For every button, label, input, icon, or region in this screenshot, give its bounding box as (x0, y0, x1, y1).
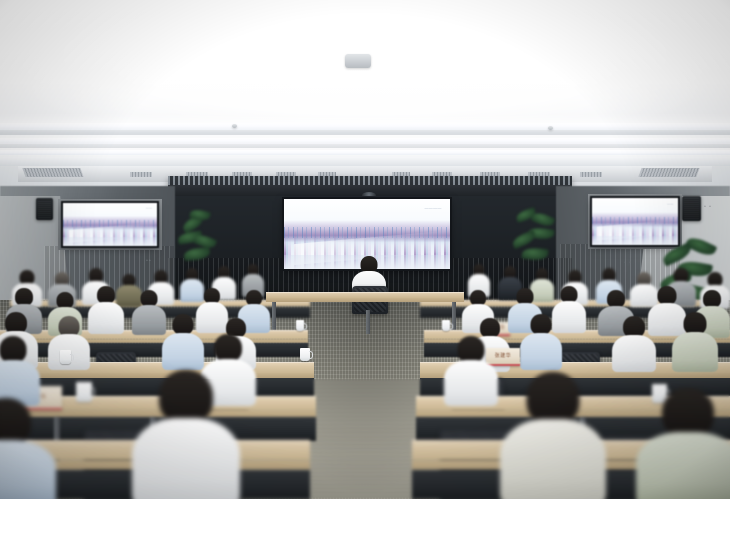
plant-left (176, 208, 222, 266)
ceiling-rail (0, 130, 730, 135)
ceiling-sprinkler-icon (232, 124, 237, 128)
head (527, 372, 580, 425)
ceiling (0, 0, 730, 196)
screen-watermark: ———— (425, 205, 442, 210)
attendee-foreground (500, 372, 606, 499)
head (173, 314, 194, 335)
plant-leaf (521, 247, 548, 262)
head (214, 334, 242, 362)
attendee-foreground (132, 370, 240, 499)
conference-room-photo: ———— —— —— ▫▫ ▫ ▫ ▫ ▫ (0, 0, 730, 499)
waterfront-band (63, 237, 157, 246)
ceiling-light-strip (0, 123, 730, 130)
paper-cup (60, 350, 71, 364)
wall-sign-left: ▫▫ (146, 258, 152, 264)
ceiling-slot (580, 172, 602, 177)
attendee (162, 314, 204, 368)
paper-cup (76, 382, 92, 402)
hvac-grille (22, 168, 83, 177)
torso (500, 419, 606, 499)
attendee (88, 286, 124, 332)
torso (636, 432, 730, 499)
ceiling-rail (0, 144, 730, 148)
cityscape-image (63, 203, 157, 246)
torso (672, 332, 718, 372)
torso (162, 333, 204, 370)
head (0, 336, 27, 363)
ceiling-slot (130, 172, 152, 177)
ceiling-sprinkler-icon (548, 126, 553, 130)
attendee (672, 312, 718, 370)
head (0, 398, 31, 446)
attendee-foreground (0, 398, 56, 499)
torso (0, 440, 56, 499)
attendee (520, 314, 562, 368)
wall-sign-right-lower: ▫ ▫ (624, 260, 632, 266)
attendee (444, 336, 498, 402)
head (662, 388, 714, 438)
screen-watermark: —— (146, 206, 153, 210)
screen-watermark: —— (667, 202, 674, 206)
head (458, 336, 485, 363)
plant-leaf (184, 247, 211, 261)
wall-speaker (682, 196, 701, 221)
attendee (0, 336, 40, 402)
wall-speaker (36, 198, 53, 220)
screenshot-root: ———— —— —— ▫▫ ▫ ▫ ▫ ▫ (0, 0, 730, 548)
head (159, 370, 213, 424)
torso (444, 360, 498, 406)
left-side-display[interactable]: —— (63, 203, 157, 246)
paper-cup (300, 348, 310, 361)
paper-cup (442, 320, 450, 331)
hvac-grille (638, 168, 699, 177)
torso (132, 418, 240, 499)
photo-caption-area (0, 499, 730, 548)
front-desk-edge (266, 298, 464, 302)
attendee-foreground (636, 388, 730, 499)
head (531, 314, 552, 335)
wall-sign-right: ▫ ▫ (704, 204, 712, 210)
paper-cup (296, 320, 304, 331)
torso (88, 302, 124, 334)
torso (612, 335, 656, 372)
ceiling-light-strip (0, 150, 730, 155)
head (480, 318, 500, 338)
plant-leaf (511, 230, 537, 249)
torso (520, 333, 562, 370)
torso (132, 305, 166, 335)
desk-leg (366, 310, 370, 334)
desk-modesty-panel (0, 343, 308, 357)
attendee (132, 290, 166, 334)
ceiling-soffit-edge (0, 157, 730, 166)
plant-right (512, 206, 560, 268)
attendee (612, 316, 656, 370)
desk-leg (272, 302, 276, 330)
smoke-detector-icon (345, 54, 371, 68)
